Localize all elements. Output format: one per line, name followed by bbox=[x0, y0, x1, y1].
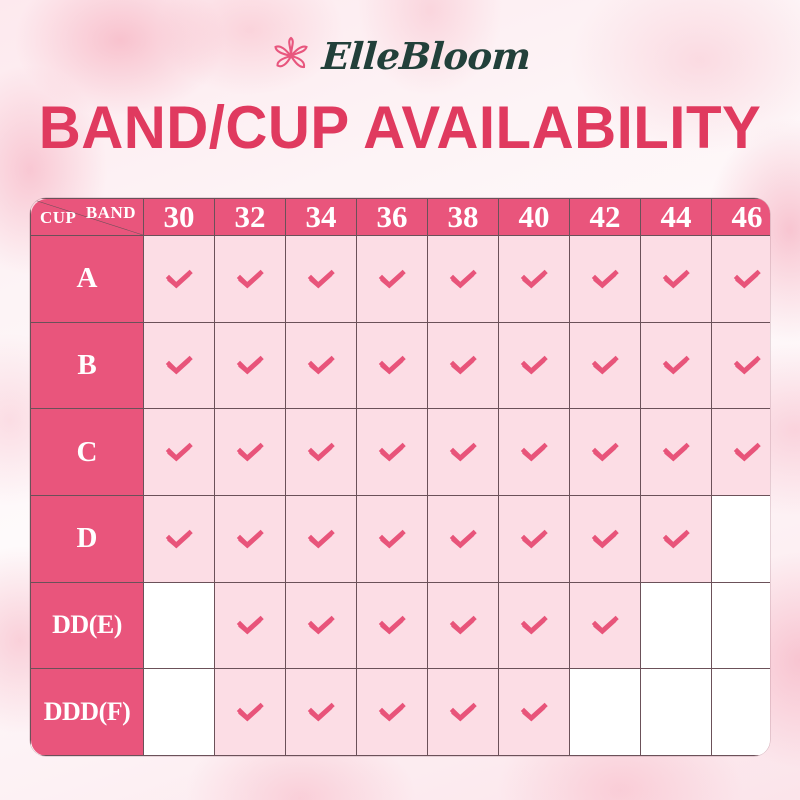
check-icon bbox=[517, 435, 551, 469]
availability-cell-B-46[interactable] bbox=[712, 322, 771, 409]
availability-cell-DDD(F)-44[interactable] bbox=[641, 669, 712, 756]
availability-cell-DD(E)-40[interactable] bbox=[499, 582, 570, 669]
check-icon bbox=[588, 435, 622, 469]
check-icon bbox=[233, 608, 267, 642]
availability-cell-C-46[interactable] bbox=[712, 409, 771, 496]
table-row: B bbox=[31, 322, 771, 409]
check-icon bbox=[304, 262, 338, 296]
check-icon bbox=[162, 262, 196, 296]
availability-cell-C-40[interactable] bbox=[499, 409, 570, 496]
availability-cell-B-44[interactable] bbox=[641, 322, 712, 409]
check-icon bbox=[304, 348, 338, 382]
brand-logo: ElleBloom bbox=[0, 32, 800, 80]
availability-cell-C-32[interactable] bbox=[215, 409, 286, 496]
availability-cell-D-38[interactable] bbox=[428, 495, 499, 582]
availability-cell-DDD(F)-40[interactable] bbox=[499, 669, 570, 756]
check-icon bbox=[446, 262, 480, 296]
availability-cell-A-32[interactable] bbox=[215, 236, 286, 323]
check-icon bbox=[375, 695, 409, 729]
availability-cell-B-32[interactable] bbox=[215, 322, 286, 409]
availability-cell-DD(E)-44[interactable] bbox=[641, 582, 712, 669]
cup-size-header-A: A bbox=[31, 236, 144, 323]
availability-cell-DDD(F)-30[interactable] bbox=[144, 669, 215, 756]
availability-cell-B-30[interactable] bbox=[144, 322, 215, 409]
availability-cell-C-42[interactable] bbox=[570, 409, 641, 496]
availability-cell-A-30[interactable] bbox=[144, 236, 215, 323]
availability-cell-DD(E)-34[interactable] bbox=[286, 582, 357, 669]
check-icon bbox=[233, 695, 267, 729]
page-title: BAND/CUP AVAILABILITY bbox=[12, 98, 788, 158]
check-icon bbox=[446, 695, 480, 729]
availability-cell-DD(E)-36[interactable] bbox=[357, 582, 428, 669]
check-icon bbox=[233, 348, 267, 382]
check-icon bbox=[730, 435, 764, 469]
table-header-row: BAND CUP 303234363840424446 bbox=[31, 199, 771, 236]
band-size-header-40: 40 bbox=[499, 199, 570, 236]
table-row: A bbox=[31, 236, 771, 323]
availability-cell-DD(E)-38[interactable] bbox=[428, 582, 499, 669]
check-icon bbox=[588, 262, 622, 296]
availability-cell-DDD(F)-42[interactable] bbox=[570, 669, 641, 756]
check-icon bbox=[375, 522, 409, 556]
check-icon bbox=[375, 435, 409, 469]
check-icon bbox=[588, 608, 622, 642]
check-icon bbox=[588, 348, 622, 382]
check-icon bbox=[304, 695, 338, 729]
check-icon bbox=[162, 522, 196, 556]
check-icon bbox=[304, 608, 338, 642]
check-icon bbox=[304, 435, 338, 469]
band-size-header-30: 30 bbox=[144, 199, 215, 236]
availability-cell-DDD(F)-32[interactable] bbox=[215, 669, 286, 756]
check-icon bbox=[730, 348, 764, 382]
brand-name: ElleBloom bbox=[321, 38, 532, 75]
availability-cell-D-34[interactable] bbox=[286, 495, 357, 582]
check-icon bbox=[446, 348, 480, 382]
availability-table: BAND CUP 303234363840424446 ABCDDD(E)DDD… bbox=[30, 198, 770, 756]
check-icon bbox=[446, 608, 480, 642]
availability-cell-A-40[interactable] bbox=[499, 236, 570, 323]
availability-cell-A-46[interactable] bbox=[712, 236, 771, 323]
band-size-header-46: 46 bbox=[712, 199, 771, 236]
check-icon bbox=[233, 522, 267, 556]
availability-cell-DD(E)-42[interactable] bbox=[570, 582, 641, 669]
availability-cell-A-38[interactable] bbox=[428, 236, 499, 323]
availability-cell-DD(E)-46[interactable] bbox=[712, 582, 771, 669]
check-icon bbox=[233, 435, 267, 469]
availability-cell-C-34[interactable] bbox=[286, 409, 357, 496]
check-icon bbox=[730, 262, 764, 296]
check-icon bbox=[659, 262, 693, 296]
availability-cell-DDD(F)-36[interactable] bbox=[357, 669, 428, 756]
check-icon bbox=[517, 608, 551, 642]
check-icon bbox=[304, 522, 338, 556]
table-row: DDD(F) bbox=[31, 669, 771, 756]
availability-cell-D-32[interactable] bbox=[215, 495, 286, 582]
availability-chart: BAND CUP 303234363840424446 ABCDDD(E)DDD… bbox=[30, 198, 770, 756]
check-icon bbox=[659, 348, 693, 382]
band-size-header-42: 42 bbox=[570, 199, 641, 236]
table-row: D bbox=[31, 495, 771, 582]
cup-size-header-DD(E): DD(E) bbox=[31, 582, 144, 669]
check-icon bbox=[517, 695, 551, 729]
check-icon bbox=[162, 435, 196, 469]
availability-cell-D-36[interactable] bbox=[357, 495, 428, 582]
availability-cell-C-38[interactable] bbox=[428, 409, 499, 496]
availability-cell-A-34[interactable] bbox=[286, 236, 357, 323]
cup-size-header-D: D bbox=[31, 495, 144, 582]
check-icon bbox=[375, 348, 409, 382]
availability-cell-DDD(F)-34[interactable] bbox=[286, 669, 357, 756]
availability-cell-D-40[interactable] bbox=[499, 495, 570, 582]
availability-cell-C-36[interactable] bbox=[357, 409, 428, 496]
availability-cell-D-46[interactable] bbox=[712, 495, 771, 582]
availability-cell-A-36[interactable] bbox=[357, 236, 428, 323]
corner-header-cell: BAND CUP bbox=[31, 199, 144, 236]
table-body: ABCDDD(E)DDD(F) bbox=[31, 236, 771, 756]
availability-cell-DDD(F)-46[interactable] bbox=[712, 669, 771, 756]
check-icon bbox=[233, 262, 267, 296]
cup-axis-label: CUP bbox=[40, 208, 76, 228]
availability-cell-C-30[interactable] bbox=[144, 409, 215, 496]
cup-size-header-C: C bbox=[31, 409, 144, 496]
availability-cell-D-42[interactable] bbox=[570, 495, 641, 582]
cup-size-header-DDD(F): DDD(F) bbox=[31, 669, 144, 756]
check-icon bbox=[446, 435, 480, 469]
band-size-header-32: 32 bbox=[215, 199, 286, 236]
availability-cell-D-44[interactable] bbox=[641, 495, 712, 582]
availability-cell-DD(E)-32[interactable] bbox=[215, 582, 286, 669]
band-axis-label: BAND bbox=[86, 203, 136, 223]
check-icon bbox=[659, 522, 693, 556]
availability-cell-DD(E)-30[interactable] bbox=[144, 582, 215, 669]
check-icon bbox=[375, 262, 409, 296]
availability-cell-DDD(F)-38[interactable] bbox=[428, 669, 499, 756]
availability-cell-A-42[interactable] bbox=[570, 236, 641, 323]
check-icon bbox=[517, 348, 551, 382]
availability-cell-A-44[interactable] bbox=[641, 236, 712, 323]
check-icon bbox=[162, 348, 196, 382]
availability-cell-B-36[interactable] bbox=[357, 322, 428, 409]
table-row: DD(E) bbox=[31, 582, 771, 669]
availability-cell-B-34[interactable] bbox=[286, 322, 357, 409]
availability-cell-B-40[interactable] bbox=[499, 322, 570, 409]
check-icon bbox=[659, 435, 693, 469]
band-size-header-34: 34 bbox=[286, 199, 357, 236]
check-icon bbox=[375, 608, 409, 642]
availability-cell-B-38[interactable] bbox=[428, 322, 499, 409]
band-size-header-36: 36 bbox=[357, 199, 428, 236]
availability-cell-D-30[interactable] bbox=[144, 495, 215, 582]
check-icon bbox=[588, 522, 622, 556]
check-icon bbox=[517, 522, 551, 556]
availability-cell-B-42[interactable] bbox=[570, 322, 641, 409]
check-icon bbox=[446, 522, 480, 556]
table-row: C bbox=[31, 409, 771, 496]
cup-size-header-B: B bbox=[31, 322, 144, 409]
band-size-header-38: 38 bbox=[428, 199, 499, 236]
band-size-header-44: 44 bbox=[641, 199, 712, 236]
check-icon bbox=[517, 262, 551, 296]
flower-icon bbox=[269, 34, 313, 78]
availability-cell-C-44[interactable] bbox=[641, 409, 712, 496]
